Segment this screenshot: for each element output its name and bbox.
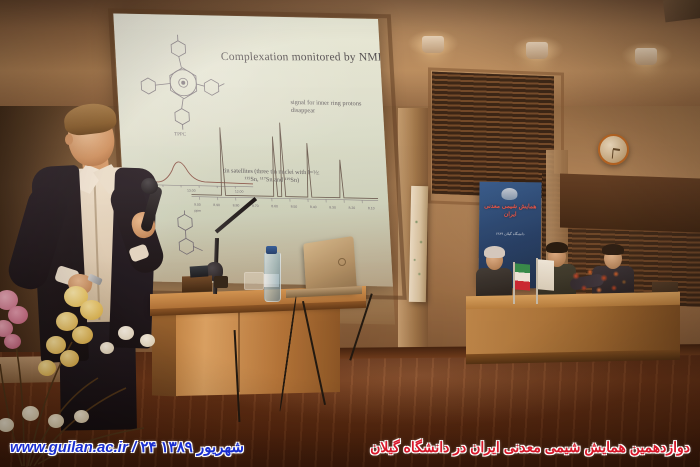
downlight-2	[526, 42, 548, 59]
yellow-blossom	[80, 300, 103, 320]
white-blossom	[74, 410, 89, 423]
panelist-3-hair	[602, 244, 624, 255]
caption-date: ۲۴ شهریور ۱۳۸۹	[140, 439, 244, 456]
podium-seam	[238, 308, 240, 392]
podium-name-card	[190, 265, 209, 277]
photograph-stage: Complexation monitored by NMR	[0, 0, 700, 467]
white-blossom	[118, 326, 134, 340]
white-blossom	[100, 342, 114, 354]
clock-hour-hand	[613, 148, 620, 151]
yellow-blossom	[60, 350, 79, 367]
iran-flag-icon	[515, 263, 530, 290]
podium-object-box	[182, 275, 212, 292]
downlight-1	[422, 36, 444, 53]
panelist-1-hair	[484, 246, 505, 258]
podium-front-panel	[176, 306, 340, 396]
caption-right: دوازدهمین همایش شیمی معدنی ایران در دانش…	[370, 439, 690, 456]
clock-minute-hand	[612, 149, 614, 158]
pink-blossom	[8, 306, 28, 324]
yellow-blossom	[38, 360, 56, 376]
standee-calligraphy	[410, 212, 427, 284]
podium-object-small	[214, 276, 228, 288]
flower-arrangement-table	[566, 264, 628, 300]
wall-recess-shelf	[560, 174, 700, 233]
banner-headline: همایش شیمی معدنی ایران	[483, 204, 537, 220]
pink-blossom	[4, 334, 21, 349]
wall-clock-icon	[598, 134, 629, 165]
laptop-logo-icon	[338, 258, 346, 266]
speaker-ear	[65, 134, 73, 145]
white-blossom	[140, 334, 155, 347]
yellow-blossom	[72, 326, 93, 344]
caption-separator: /	[132, 439, 136, 456]
website-url: www.guilan.ac.ir	[10, 439, 128, 456]
banner-logo-icon	[501, 188, 517, 200]
vertical-standee-banner	[409, 186, 428, 302]
white-blossom	[48, 414, 64, 428]
downlight-3	[635, 48, 657, 65]
water-bottle-label	[264, 274, 279, 287]
banner-subtext: دانشگاه گیلان ۱۳۸۹	[485, 232, 535, 237]
caption-bar: www.guilan.ac.ir / ۲۴ شهریور ۱۳۸۹ دوازده…	[0, 427, 700, 467]
panelist-2-hair	[546, 242, 568, 253]
caption-left: www.guilan.ac.ir / ۲۴ شهریور ۱۳۸۹	[10, 438, 244, 456]
white-blossom	[22, 406, 39, 421]
drinking-glass	[244, 272, 264, 290]
laptop-lid	[303, 236, 357, 292]
water-bottle-cap	[266, 246, 277, 254]
institution-flag-icon	[538, 259, 554, 290]
